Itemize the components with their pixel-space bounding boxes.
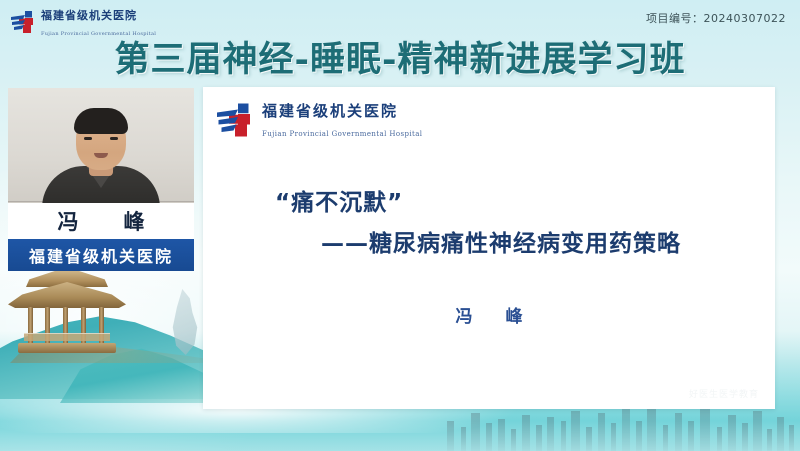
slide-watermark: 好医生医学教育: [689, 387, 759, 400]
slide-brand-text: 福建省级机关医院 Fujian Provincial Governmental …: [262, 100, 422, 140]
chinese-pavilion-illustration: [8, 267, 126, 359]
speaker-organization: 福建省级机关医院: [29, 243, 173, 267]
medical-cross-logo-icon: [215, 102, 255, 138]
presentation-screen: 福建省级机关医院 Fujian Provincial Governmental …: [0, 0, 800, 451]
slide-title-block: “痛不沉默” ——糖尿病痛性神经病变用药策略: [203, 183, 775, 258]
speaker-hair: [74, 108, 128, 134]
speaker-video-feed[interactable]: [8, 88, 194, 218]
slide-hospital-name-cn: 福建省级机关医院: [262, 102, 398, 120]
pavilion-base: [18, 343, 116, 353]
pavilion-main-roof: [8, 282, 126, 308]
slide-presenter-name: 冯 峰: [203, 302, 775, 327]
speaker-eye-right: [110, 137, 118, 140]
slide-title-line-1: “痛不沉默”: [203, 183, 775, 217]
presentation-slide[interactable]: 福建省级机关医院 Fujian Provincial Governmental …: [203, 87, 775, 409]
speaker-eye-left: [84, 137, 92, 140]
speaker-organization-plate: 福建省级机关医院: [8, 239, 194, 271]
speaker-name-plate: 冯 峰: [8, 203, 194, 239]
hospital-name-cn: 福建省级机关医院: [41, 9, 137, 22]
slide-title-line-2: ——糖尿病痛性神经病变用药策略: [203, 224, 775, 258]
project-number: 项目编号：20240307022: [646, 10, 786, 26]
speaker-name: 冯 峰: [46, 206, 157, 236]
page-header: 福建省级机关医院 Fujian Provincial Governmental …: [0, 0, 800, 84]
page-title: 第三届神经-睡眠-精神新进展学习班: [0, 31, 800, 82]
pavilion-railing: [24, 333, 110, 341]
slide-hospital-name-en: Fujian Provincial Governmental Hospital: [262, 130, 422, 138]
slide-hospital-brand: 福建省级机关医院 Fujian Provincial Governmental …: [215, 100, 422, 140]
